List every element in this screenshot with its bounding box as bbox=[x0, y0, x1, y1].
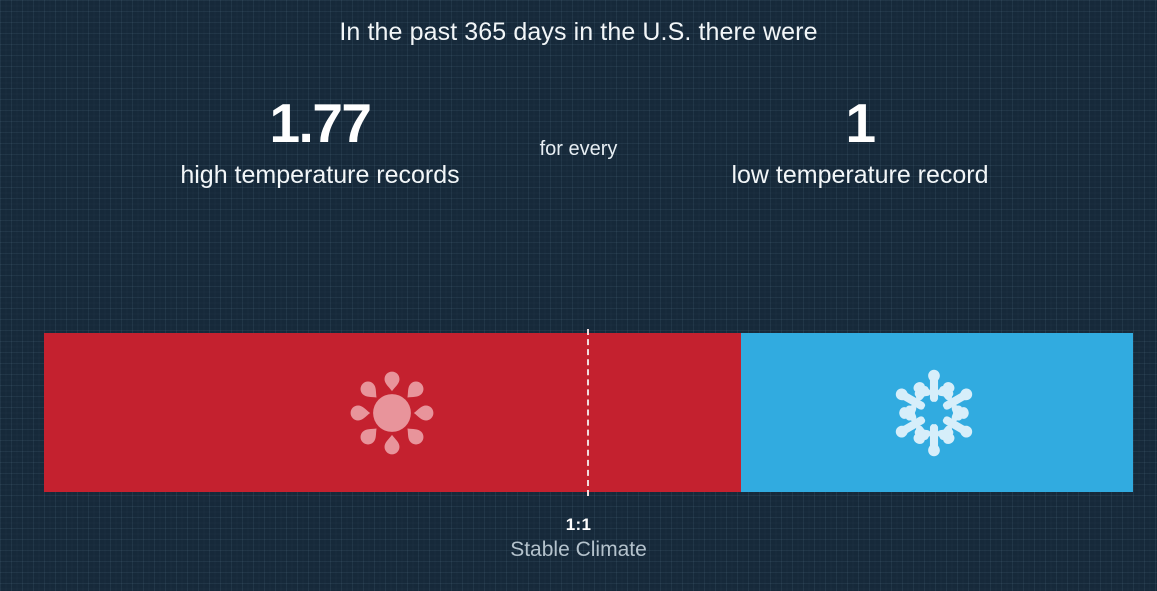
parity-ratio-label: 1:1 bbox=[0, 515, 1157, 535]
parity-caption-text: Stable Climate bbox=[0, 537, 1157, 563]
ratio-bar bbox=[44, 333, 1133, 492]
high-records-label: high temperature records bbox=[60, 160, 580, 190]
parity-caption: 1:1 Stable Climate bbox=[0, 515, 1157, 563]
sun-icon bbox=[347, 368, 437, 458]
infographic-canvas: In the past 365 days in the U.S. there w… bbox=[0, 0, 1157, 591]
low-records-label: low temperature record bbox=[600, 160, 1120, 190]
page-title: In the past 365 days in the U.S. there w… bbox=[0, 18, 1157, 47]
snowflake-icon bbox=[889, 368, 979, 458]
parity-marker-line bbox=[587, 329, 589, 496]
ratio-connector-text: for every bbox=[0, 138, 1157, 161]
